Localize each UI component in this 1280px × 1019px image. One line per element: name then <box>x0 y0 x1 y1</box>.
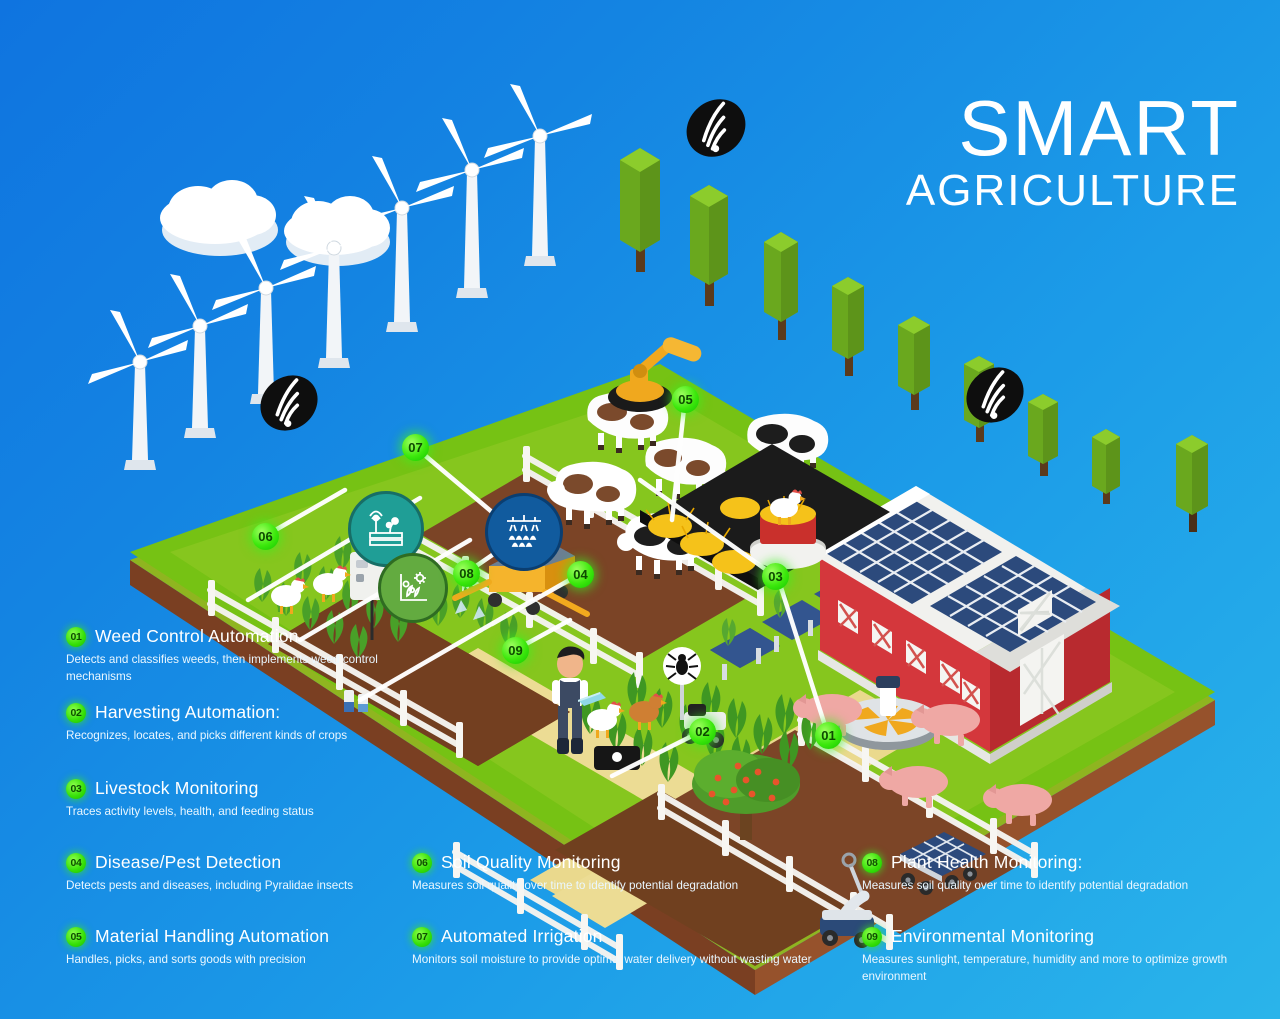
scene-marker-03[interactable]: 03 <box>762 563 789 590</box>
legend-item-05[interactable]: 05Material Handling AutomationHandles, p… <box>66 926 396 969</box>
legend-item-02[interactable]: 02Harvesting Automation:Recognizes, loca… <box>66 702 396 745</box>
scene-marker-08[interactable]: 08 <box>453 560 480 587</box>
legend-desc-05: Handles, picks, and sorts goods with pre… <box>66 952 396 969</box>
legend-badge-09: 09 <box>862 927 882 947</box>
legend-item-09[interactable]: 09Environmental MonitoringMeasures sunli… <box>862 926 1262 985</box>
legend-badge-01: 01 <box>66 627 86 647</box>
legend-title-07: Automated Irrigation <box>441 926 603 947</box>
legend-desc-09: Measures sunlight, temperature, humidity… <box>862 952 1262 985</box>
plant-growth-icon[interactable] <box>378 553 448 623</box>
legend-item-06[interactable]: 06Soil Quality MonitoringMeasures soil q… <box>412 852 812 895</box>
legend-title-04: Disease/Pest Detection <box>95 852 281 873</box>
scene-marker-06[interactable]: 06 <box>252 523 279 550</box>
legend-title-01: Weed Control Automation <box>95 626 299 647</box>
infographic-canvas: SMART AGRICULTURE <box>0 0 1280 1019</box>
scene-marker-02[interactable]: 02 <box>689 718 716 745</box>
legend-item-01[interactable]: 01Weed Control AutomationDetects and cla… <box>66 626 396 685</box>
legend-desc-01: Detects and classifies weeds, then imple… <box>66 652 396 685</box>
legend-badge-05: 05 <box>66 927 86 947</box>
scene-marker-05[interactable]: 05 <box>672 386 699 413</box>
legend-badge-07: 07 <box>412 927 432 947</box>
legend-title-08: Plant Health Monitoring: <box>891 852 1083 873</box>
scene-marker-01[interactable]: 01 <box>815 722 842 749</box>
legend-item-07[interactable]: 07Automated IrrigationMonitors soil mois… <box>412 926 812 969</box>
legend-title-02: Harvesting Automation: <box>95 702 280 723</box>
plant-growth-glyph <box>393 568 433 608</box>
soil-sensor-glyph <box>364 507 408 551</box>
legend-badge-02: 02 <box>66 703 86 723</box>
legend-badge-06: 06 <box>412 853 432 873</box>
legend-badge-03: 03 <box>66 779 86 799</box>
legend-title-03: Livestock Monitoring <box>95 778 259 799</box>
legend-title-05: Material Handling Automation <box>95 926 329 947</box>
legend-desc-03: Traces activity levels, health, and feed… <box>66 804 396 821</box>
legend-title-09: Environmental Monitoring <box>891 926 1094 947</box>
legend-desc-02: Recognizes, locates, and picks different… <box>66 728 396 745</box>
legend-desc-04: Detects pests and diseases, including Py… <box>66 878 396 895</box>
sprinkler-irrigation-icon[interactable] <box>485 493 563 571</box>
legend-desc-06: Measures soil quality over time to ident… <box>412 878 812 895</box>
legend-item-03[interactable]: 03Livestock MonitoringTraces activity le… <box>66 778 396 821</box>
legend-item-08[interactable]: 08Plant Health Monitoring:Measures soil … <box>862 852 1262 895</box>
scene-marker-09[interactable]: 09 <box>502 637 529 664</box>
sprinkler-glyph <box>501 509 547 555</box>
scene-marker-07[interactable]: 07 <box>402 434 429 461</box>
scene-marker-04[interactable]: 04 <box>567 561 594 588</box>
legend-desc-07: Monitors soil moisture to provide optima… <box>412 952 812 969</box>
legend-badge-08: 08 <box>862 853 882 873</box>
legend-desc-08: Measures soil quality over time to ident… <box>862 878 1262 895</box>
legend-badge-04: 04 <box>66 853 86 873</box>
legend-item-04[interactable]: 04Disease/Pest DetectionDetects pests an… <box>66 852 396 895</box>
legend-title-06: Soil Quality Monitoring <box>441 852 621 873</box>
